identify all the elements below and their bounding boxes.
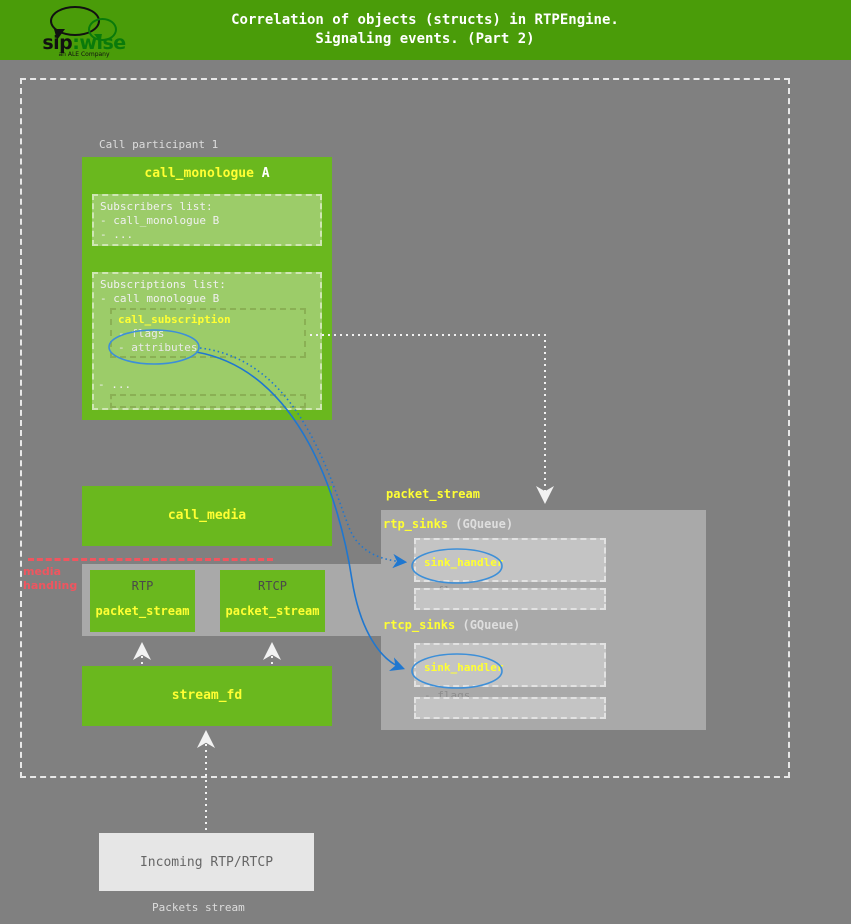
page-title: Correlation of objects (structs) in RTPE… (150, 11, 700, 49)
stream-fd-block: stream_fd (82, 666, 332, 726)
call-monologue-title: call_monologue A (82, 166, 332, 181)
rtcp-struct-name: packet_stream (220, 604, 325, 618)
incoming-packets-label: Incoming RTP/RTCP (140, 855, 273, 870)
incoming-packets-box: Incoming RTP/RTCP (99, 833, 314, 891)
rtcp-sink-handler-row: sink_handler - flags - attributes (414, 643, 606, 687)
subscribers-list-box: Subscribers list: - call_monologue B - .… (92, 194, 322, 246)
call-media-title: call_media (82, 508, 332, 523)
rtcp-sink-handler-name: sink_handler (424, 661, 596, 675)
rtcp-packet-stream-block: RTCP packet_stream (220, 570, 325, 632)
rtp-sinks-name: rtp_sinks (383, 517, 448, 531)
call-media-block: call_media (82, 486, 332, 546)
rtp-struct-name: packet_stream (90, 604, 195, 618)
stream-fd-title: stream_fd (82, 688, 332, 703)
call-monologue-title-suffix: A (254, 166, 270, 181)
sipwise-logo: sip:wise an ALE Company (32, 4, 136, 56)
call-subscription-struct: call_subscription - flags - attributes (110, 308, 306, 358)
packet-stream-panel-title: packet_stream (386, 487, 480, 501)
call-participant-caption: Call participant 1 (99, 138, 218, 151)
rtp-sink-handler-row: sink_handler - flags - attributes (414, 538, 606, 582)
rtcp-sinks-name: rtcp_sinks (383, 618, 455, 632)
rtcp-sinks-empty-row (414, 697, 606, 719)
page-header: sip:wise an ALE Company Correlation of o… (0, 0, 851, 60)
rtp-sinks-type: (GQueue) (448, 517, 513, 531)
rtp-sink-handler-name: sink_handler (424, 556, 596, 570)
call-monologue-title-code: call_monologue (144, 166, 254, 181)
packets-stream-caption: Packets stream (152, 901, 245, 914)
subscriptions-ellipsis: - ... (98, 378, 131, 391)
band-separator (82, 636, 382, 646)
rtp-label: RTP (90, 579, 195, 593)
media-handling-label: media handling (23, 565, 81, 593)
rtp-packet-stream-block: RTP packet_stream (90, 570, 195, 632)
media-handling-divider (28, 558, 273, 561)
rtcp-sinks-label: rtcp_sinks (GQueue) (383, 618, 520, 632)
rtp-sinks-empty-row (414, 588, 606, 610)
diagram-canvas: Call participant 1 call_monologue A Subs… (0, 60, 851, 924)
call-subscription-name: call_subscription (118, 313, 298, 327)
rtcp-sinks-type: (GQueue) (455, 618, 520, 632)
logo-tagline: an ALE Company (32, 51, 136, 58)
rtp-sinks-label: rtp_sinks (GQueue) (383, 517, 513, 531)
subscription-empty-slot (110, 394, 306, 408)
call-subscription-fields: - flags - attributes (118, 327, 298, 355)
rtcp-label: RTCP (220, 579, 325, 593)
